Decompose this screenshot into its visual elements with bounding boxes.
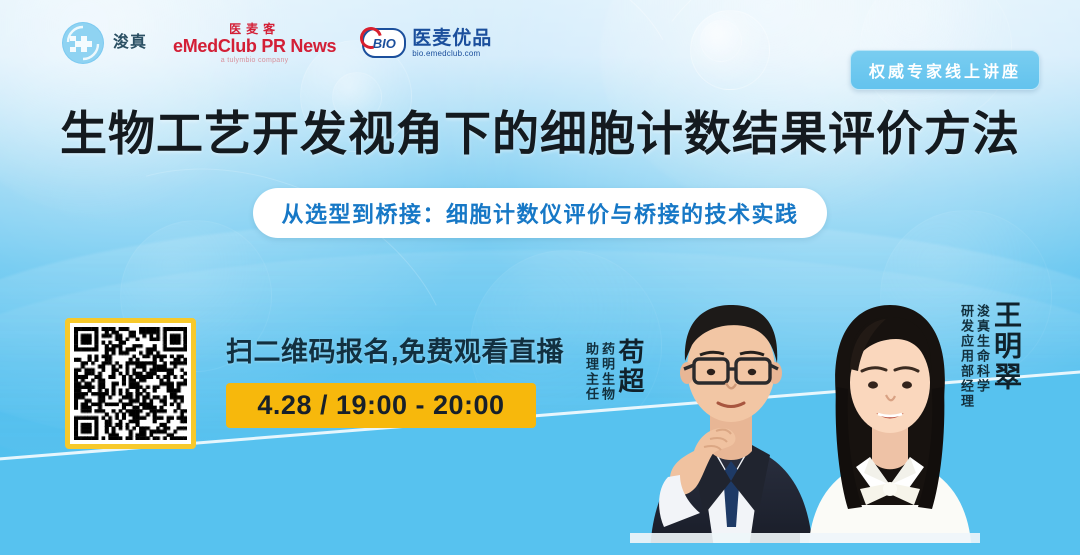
brand-logo-junzhen: 浚真 (62, 22, 147, 64)
cell-network-icon (62, 22, 104, 64)
logo-bio-emedclub: BIO 医麦优品 bio.emedclub.com (362, 28, 492, 58)
poster-header: 浚真 医麦客 eMedClub PR News a tulymbio compa… (0, 18, 1080, 80)
expert-lecture-badge: 权威专家线上讲座 (850, 50, 1040, 90)
logo-row: 浚真 医麦客 eMedClub PR News a tulymbio compa… (62, 22, 492, 64)
speaker-2-name: 王明翠 (992, 300, 1020, 393)
emedclub-tagline: a tulymbio company (221, 57, 289, 64)
page-subtitle: 从选型到桥接：细胞计数仪评价与桥接的技术实践 (253, 188, 826, 238)
registration-cta: 扫二维码报名,免费观看直播 (226, 330, 536, 369)
speaker-2-role: 研发应用部经理 (960, 304, 973, 409)
webinar-datetime: 4.28 / 19:00 - 20:00 (226, 383, 536, 428)
speaker-1-organization: 药明生物 (601, 342, 614, 402)
qr-code[interactable] (65, 318, 196, 449)
speaker-1-name: 苟超 (617, 338, 643, 396)
brand-name-junzhen: 浚真 (113, 35, 147, 51)
emedclub-cn-label: 医麦客 (229, 23, 280, 35)
bio-emedclub-url: bio.emedclub.com (412, 50, 492, 58)
qr-code-image (74, 327, 187, 440)
webinar-poster: 浚真 医麦客 eMedClub PR News a tulymbio compa… (0, 0, 1080, 555)
logo-emedclub: 医麦客 eMedClub PR News a tulymbio company (173, 23, 336, 64)
bio-emedclub-cn-label: 医麦优品 (412, 29, 492, 48)
bio-icon: BIO (362, 28, 406, 58)
emedclub-en-label: eMedClub PR News (173, 37, 336, 55)
speaker-photo-female (800, 277, 980, 555)
speaker-label-1: 苟超 药明生物 助理主任 (585, 338, 643, 402)
registration-block: 扫二维码报名,免费观看直播 4.28 / 19:00 - 20:00 (226, 330, 536, 428)
speaker-2-organization: 浚真生命科学 (976, 304, 989, 394)
bio-emedclub-text: 医麦优品 bio.emedclub.com (412, 29, 492, 58)
page-title: 生物工艺开发视角下的细胞计数结果评价方法 (0, 108, 1080, 161)
speaker-1-role: 助理主任 (585, 342, 598, 402)
speaker-label-2: 王明翠 浚真生命科学 研发应用部经理 (960, 300, 1020, 409)
subtitle-container: 从选型到桥接：细胞计数仪评价与桥接的技术实践 (0, 188, 1080, 238)
